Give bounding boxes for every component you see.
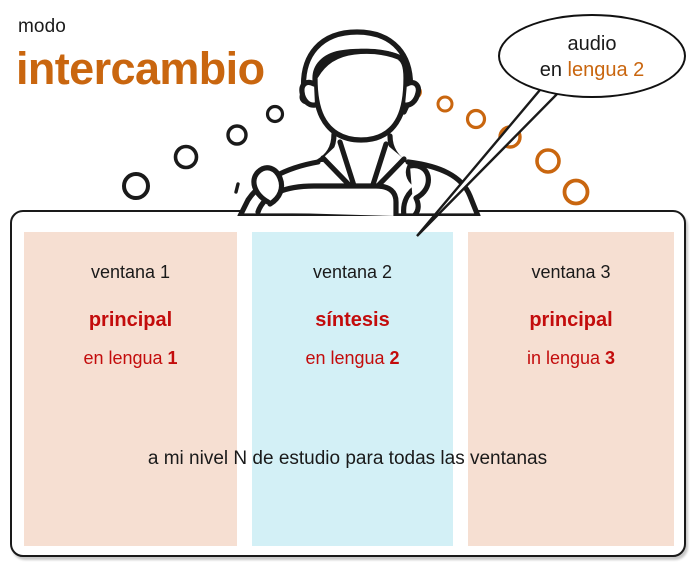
column-header: ventana 1 xyxy=(24,262,237,283)
column-language-prefix: in lengua xyxy=(527,348,605,368)
column-language: en lengua 2 xyxy=(252,348,453,369)
column-ventana-3: ventana 3 principal in lengua 3 xyxy=(468,232,674,546)
speech-bubble-text: audio en lengua 2 xyxy=(500,31,684,83)
diagram-canvas: modo intercambio xyxy=(0,0,695,571)
header-kicker: modo xyxy=(18,16,66,38)
speech-bubble-line2-highlight: lengua 2 xyxy=(568,59,645,81)
speech-bubble-line2: en lengua 2 xyxy=(500,57,684,83)
column-language: in lengua 3 xyxy=(468,348,674,369)
column-header: ventana 3 xyxy=(468,262,674,283)
speech-bubble-line1: audio xyxy=(500,31,684,57)
speech-bubble: audio en lengua 2 xyxy=(498,14,686,98)
column-role: principal xyxy=(24,309,237,332)
column-language-number: 3 xyxy=(605,348,615,368)
footer-note: a mi nivel N de estudio para todas las v… xyxy=(0,448,695,470)
column-language-number: 2 xyxy=(390,348,400,368)
column-ventana-2: ventana 2 síntesis en lengua 2 xyxy=(252,232,453,546)
speech-bubble-tail-icon xyxy=(395,84,610,244)
column-language-number: 1 xyxy=(168,348,178,368)
column-language-prefix: en lengua xyxy=(83,348,167,368)
column-header: ventana 2 xyxy=(252,262,453,283)
column-language: en lengua 1 xyxy=(24,348,237,369)
column-role: principal xyxy=(468,309,674,332)
column-language-prefix: en lengua xyxy=(305,348,389,368)
column-role: síntesis xyxy=(252,309,453,332)
speech-bubble-line2-prefix: en xyxy=(540,59,568,81)
column-ventana-1: ventana 1 principal en lengua 1 xyxy=(24,232,237,546)
